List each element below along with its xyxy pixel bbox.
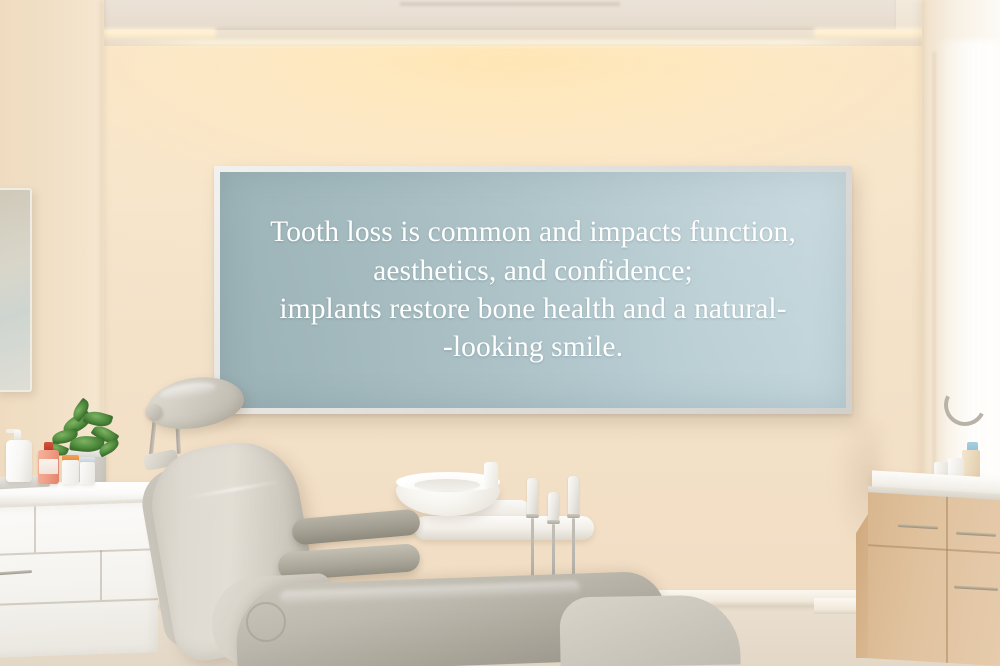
left-cabinet[interactable]: [0, 502, 158, 658]
handpiece-grip: [548, 492, 559, 522]
poster-frame[interactable]: Tooth loss is common and impacts functio…: [214, 166, 852, 414]
cuspidor-drain: [414, 479, 480, 491]
handpiece-grip: [527, 478, 538, 516]
poster-quote-text: Tooth loss is common and impacts functio…: [220, 213, 846, 366]
dental-unit-arm: [414, 516, 594, 540]
cabinet-handle[interactable]: [956, 531, 996, 536]
cabinet-handle[interactable]: [898, 524, 938, 529]
pump-bottle: [6, 440, 32, 482]
cabinet-seam: [100, 550, 102, 600]
handpiece-grip: [568, 476, 579, 516]
cabinet-seam: [0, 598, 158, 605]
cuspidor-water-spout: [484, 462, 498, 488]
chair-seat-shell-right: [559, 594, 740, 666]
cabinet-seam: [0, 548, 158, 555]
blue-cap-jar: [80, 462, 95, 484]
dental-operatory-scene: Tooth loss is common and impacts functio…: [0, 0, 1000, 666]
poster-surface: Tooth loss is common and impacts functio…: [220, 172, 846, 408]
cabinet-handle[interactable]: [0, 570, 32, 576]
orange-cap-jar: [62, 460, 79, 484]
chair-hinge-disc: [246, 602, 286, 642]
bottle-label: [39, 459, 58, 474]
cove-light-left: [96, 28, 216, 40]
headrest-adjust-knob[interactable]: [145, 404, 162, 419]
cabinet-seam: [946, 549, 948, 663]
wall-mirror-panel: [0, 188, 32, 392]
cabinet-seam: [868, 544, 1000, 553]
right-cabinet[interactable]: [868, 492, 1000, 666]
cove-light-strip: [110, 40, 890, 45]
cabinet-seam: [946, 497, 948, 549]
ceiling-seam: [400, 2, 620, 6]
cabinet-handle[interactable]: [954, 585, 998, 591]
cabinet-seam: [34, 506, 36, 552]
